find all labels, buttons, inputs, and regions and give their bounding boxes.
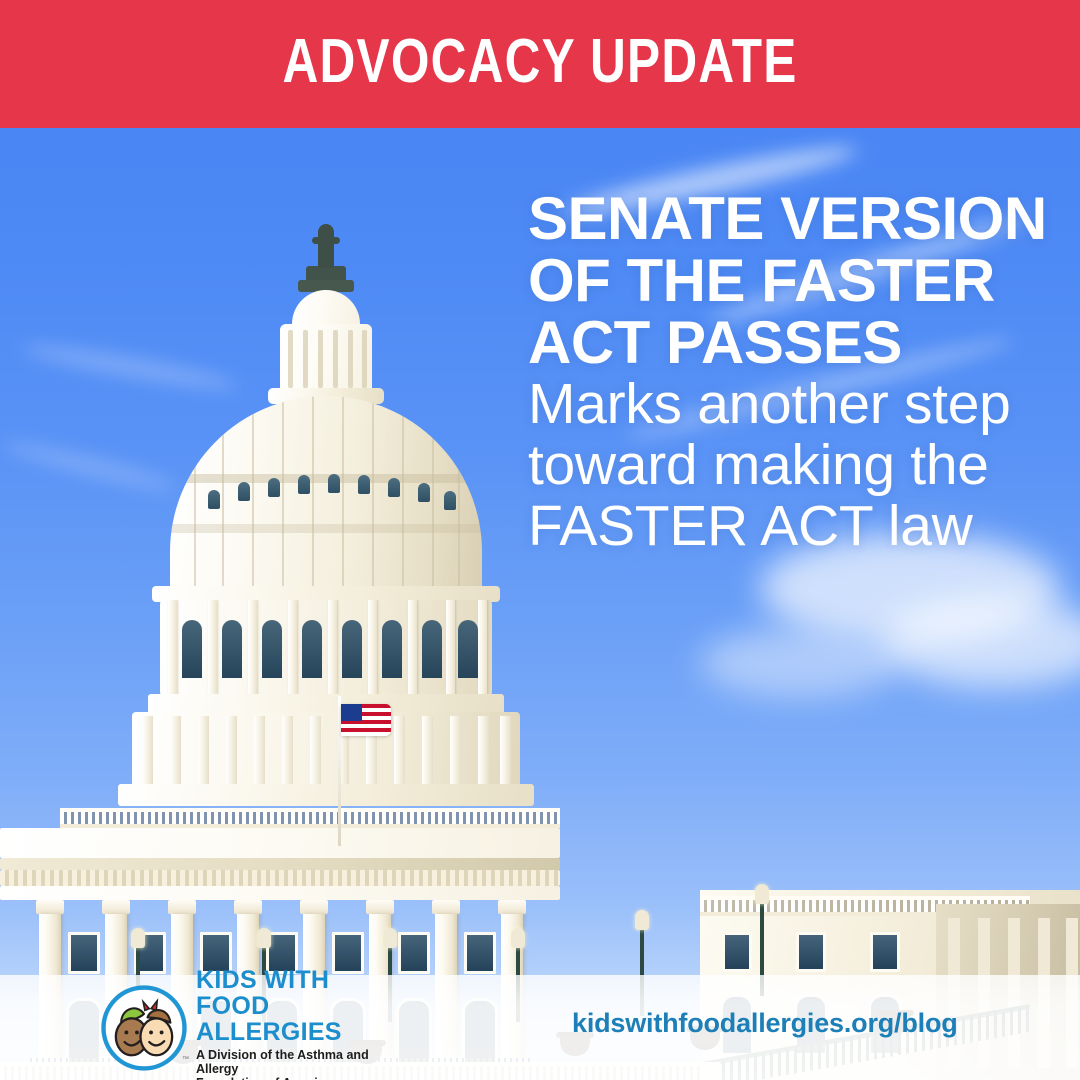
subheadline-line-1: Marks another step bbox=[528, 374, 1048, 435]
peristyle-base bbox=[118, 784, 534, 806]
subheadline: Marks another step toward making the FAS… bbox=[528, 374, 1048, 557]
dome-drum bbox=[160, 600, 492, 696]
headline-line-2: OF THE FASTER bbox=[528, 250, 1048, 312]
logo-wordmark: KIDS WITH FOOD ALLERGIES A Division of t… bbox=[196, 967, 400, 1080]
logo-tagline-line-2: Foundation of America bbox=[196, 1076, 400, 1080]
website-url[interactable]: kidswithfoodallergies.org/blog bbox=[572, 1008, 958, 1039]
subheadline-line-2: toward making the bbox=[528, 435, 1048, 496]
flag-canton bbox=[341, 704, 362, 721]
subheadline-line-3: FASTER ACT law bbox=[528, 496, 1048, 557]
logo-line-2: FOOD ALLERGIES bbox=[196, 993, 400, 1045]
logo-line-1: KIDS WITH bbox=[196, 967, 400, 993]
american-flag-icon bbox=[341, 704, 391, 736]
kids-with-food-allergies-logo[interactable]: ™ KIDS WITH FOOD ALLERGIES A Division of… bbox=[100, 982, 400, 1074]
logo-tagline-line-1: A Division of the Asthma and Allergy bbox=[196, 1048, 400, 1076]
dome-lantern bbox=[280, 324, 372, 394]
banner-title: ADVOCACY UPDATE bbox=[108, 24, 972, 100]
dome-peristyle bbox=[132, 712, 520, 788]
advocacy-update-banner: ADVOCACY UPDATE bbox=[0, 0, 1080, 128]
drum-base bbox=[148, 694, 504, 714]
dome-tholos bbox=[292, 290, 360, 328]
headline-line-1: SENATE VERSION bbox=[528, 188, 1048, 250]
trademark-symbol: ™ bbox=[182, 1056, 189, 1063]
social-graphic-canvas: ADVOCACY UPDATE bbox=[0, 0, 1080, 1080]
roof-balustrade bbox=[60, 808, 560, 828]
statue-of-freedom-icon bbox=[318, 224, 334, 268]
logo-mark-icon: ™ bbox=[100, 984, 188, 1072]
capitol-dome bbox=[170, 396, 482, 592]
headline: SENATE VERSION OF THE FASTER ACT PASSES bbox=[528, 188, 1048, 374]
hero-text-block: SENATE VERSION OF THE FASTER ACT PASSES … bbox=[528, 188, 1048, 557]
headline-line-3: ACT PASSES bbox=[528, 312, 1048, 374]
